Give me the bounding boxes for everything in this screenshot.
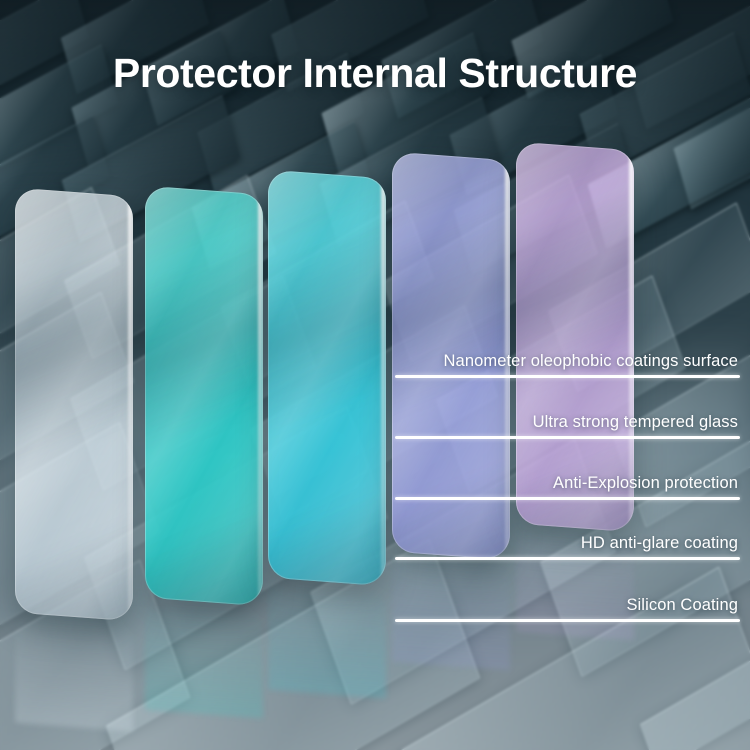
callout-rule bbox=[395, 619, 740, 622]
callout-hd-anti-glare-coating: HD anti-glare coating bbox=[395, 534, 740, 560]
callout-ultra-strong-tempered-glass: Ultra strong tempered glass bbox=[395, 413, 740, 439]
callout-label: Nanometer oleophobic coatings surface bbox=[395, 352, 740, 375]
callout-rule bbox=[395, 436, 740, 439]
callout-rule bbox=[395, 375, 740, 378]
callout-label: HD anti-glare coating bbox=[395, 534, 740, 557]
product-infographic: Protector Internal Structure bbox=[0, 0, 750, 750]
callout-rule bbox=[395, 497, 740, 500]
callout-silicon-coating: Silicon Coating bbox=[395, 596, 740, 622]
callout-rule bbox=[395, 557, 740, 560]
callout-label: Ultra strong tempered glass bbox=[395, 413, 740, 436]
callout-anti-explosion-protection: Anti-Explosion protection bbox=[395, 474, 740, 500]
callout-label-group: Nanometer oleophobic coatings surface Ul… bbox=[0, 0, 750, 750]
callout-label: Silicon Coating bbox=[395, 596, 740, 619]
callout-nanometer-oleophobic: Nanometer oleophobic coatings surface bbox=[395, 352, 740, 378]
callout-label: Anti-Explosion protection bbox=[395, 474, 740, 497]
